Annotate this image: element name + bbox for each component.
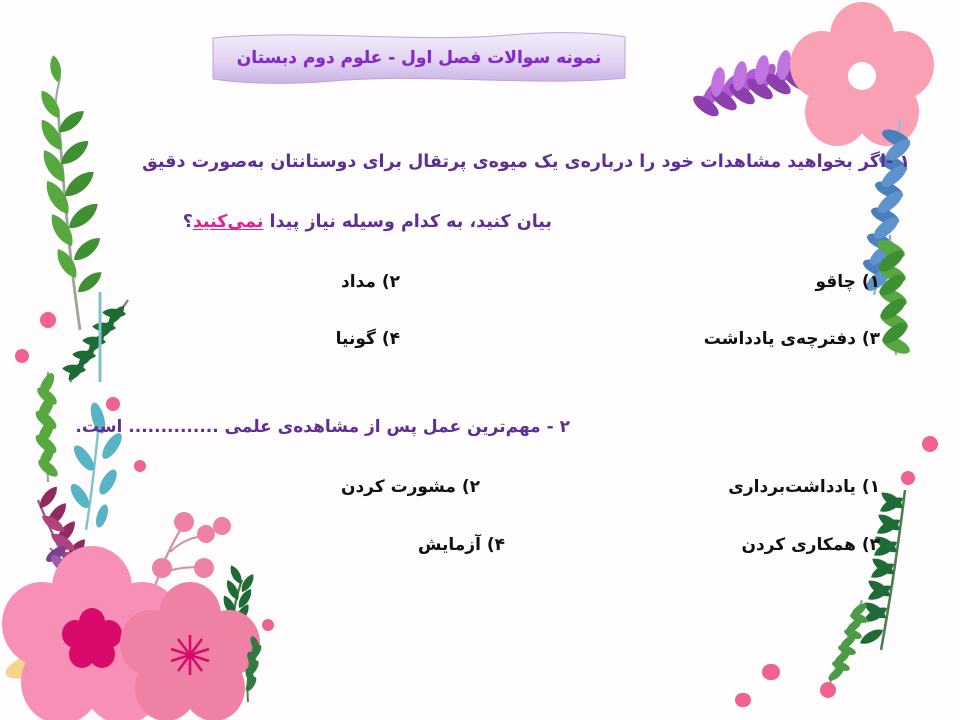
dark-fern-right-lower [858, 489, 906, 650]
worksheet-page: نمونه سوالات فصل اول - علوم دوم دبستان ۱… [0, 0, 960, 720]
question-1-option-2[interactable]: ۲) مداد [341, 272, 400, 292]
maroon-fern-left [36, 483, 98, 600]
question-2-option-2[interactable]: ۲) مشورت کردن [341, 477, 480, 497]
berry-sprig-bottom-left [137, 512, 231, 619]
question-2-line-1: ۲ - مهم‌ترین عمل پس از مشاهده‌ی علمی ...… [75, 417, 570, 437]
banner-title: نمونه سوالات فصل اول - علوم دوم دبستان [208, 30, 630, 86]
green-branch-left-tall [36, 54, 105, 330]
blue-fern-right [861, 120, 914, 295]
question-2-option-3[interactable]: ۳) همکاری کردن [741, 535, 880, 555]
question-1-line-2-before: بیان کنید، به کدام وسیله نیاز پیدا [263, 212, 552, 232]
question-2-option-1[interactable]: ۱) یادداشت‌برداری [728, 477, 880, 497]
dark-fern-bottom-left-right [244, 635, 264, 702]
purple-fern-top-right [690, 49, 865, 120]
gold-leaves-bottom-left [2, 613, 227, 714]
question-1-line-2: بیان کنید، به کدام وسیله نیاز پیدا نمی‌ک… [183, 212, 552, 232]
floral-decoration [0, 0, 960, 720]
green-fern-right-bottom [826, 600, 869, 688]
green-sprig-left-lower [33, 371, 61, 482]
teal-buds-left [67, 292, 125, 530]
pink-flower-top-right [790, 2, 934, 146]
purple-fern-left-top [44, 543, 117, 610]
dark-fern-left-middle [62, 300, 128, 383]
pink-flower-bottom-left [2, 546, 182, 720]
berries-bottom [262, 619, 778, 707]
question-1-negative-word: نمی‌کنید [193, 212, 264, 232]
question-2-option-4[interactable]: ۴) آزمایش [418, 535, 505, 555]
question-1-option-3[interactable]: ۳) دفترچه‌ی یادداشت [704, 329, 880, 349]
question-1-line-1: ۱ -اگر بخواهید مشاهدات خود را درباره‌ی ی… [142, 152, 910, 172]
green-fern-right-upper [875, 235, 913, 357]
flower-stamens [171, 635, 209, 675]
flower-center [62, 608, 122, 668]
dark-fern-bottom-left [219, 564, 257, 660]
question-1-option-4[interactable]: ۴) گونیا [336, 329, 400, 349]
question-1-option-1[interactable]: ۱) چاقو [815, 272, 880, 292]
title-banner: نمونه سوالات فصل اول - علوم دوم دبستان [208, 30, 630, 86]
question-1-line-2-after: ؟ [183, 212, 193, 232]
pink-flower-bottom-left-2 [120, 582, 260, 720]
